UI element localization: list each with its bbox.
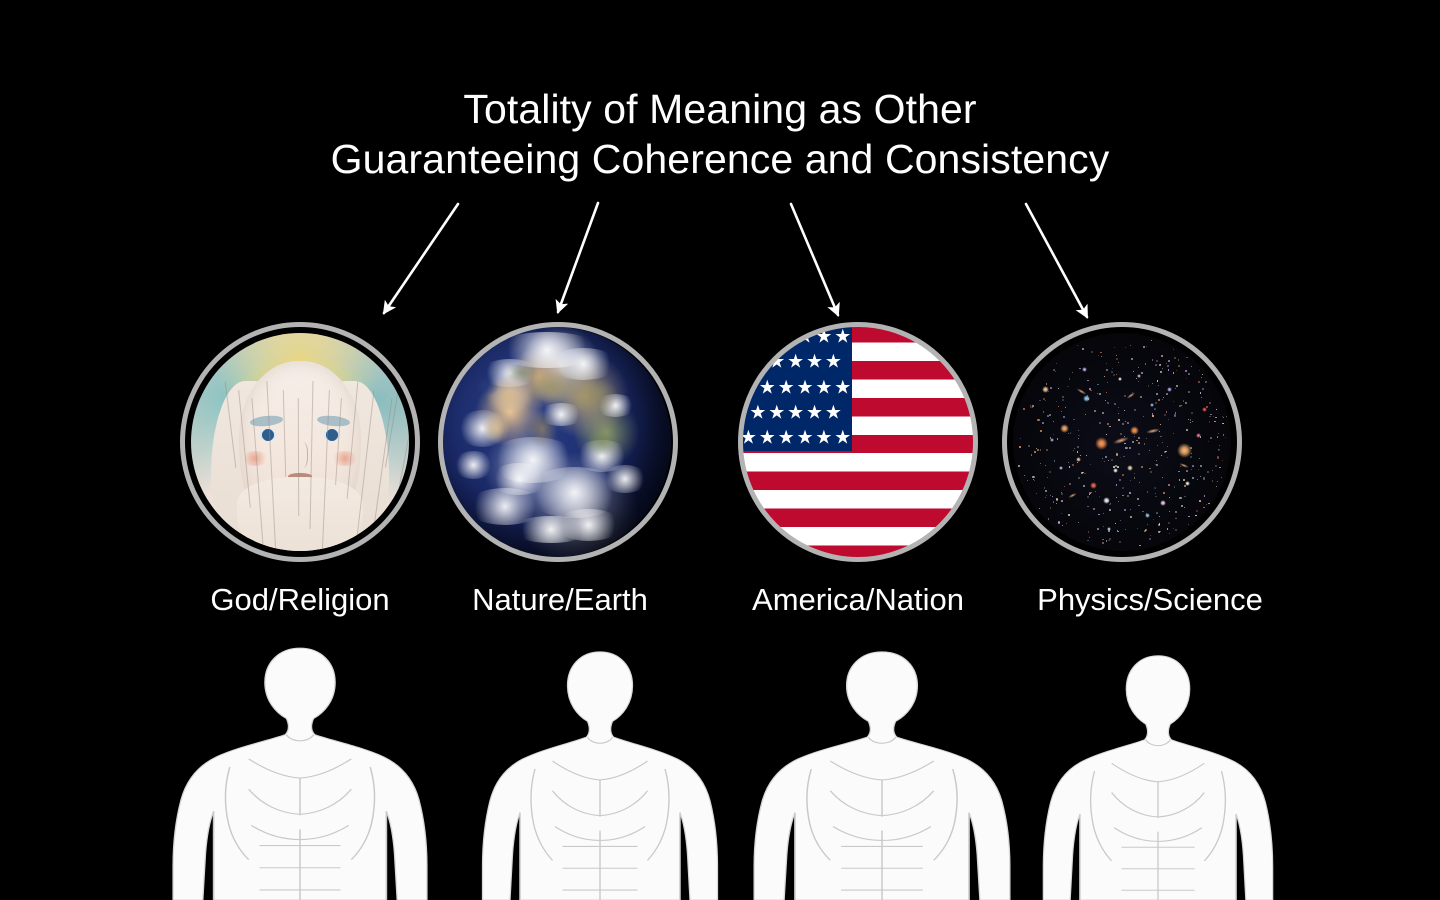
arrow-to-earth <box>558 203 598 312</box>
arrow-to-physics <box>1026 204 1087 317</box>
arrow-to-america <box>791 204 838 315</box>
figure-physics <box>1036 646 1280 900</box>
figure-earth <box>475 642 725 900</box>
medallion-label-physics-science: Physics/Science <box>1037 582 1263 618</box>
flag-star-icon: ★ <box>740 327 757 346</box>
figure-america <box>746 642 1018 900</box>
medallion-ring <box>738 322 978 562</box>
title-line-1: Totality of Meaning as Other <box>0 84 1440 134</box>
human-figure-icon <box>165 638 435 900</box>
human-figure-icon <box>475 642 725 900</box>
medallion-ring <box>1002 322 1242 562</box>
medallion-label-god-religion: God/Religion <box>210 582 389 618</box>
medallion-ring <box>438 322 678 562</box>
medallion-physics-science[interactable] <box>1002 322 1242 562</box>
medallion-ring <box>180 322 420 562</box>
medallion-nature-earth[interactable] <box>438 322 678 562</box>
human-figure-icon <box>746 642 1018 900</box>
page-title: Totality of Meaning as Other Guaranteein… <box>0 84 1440 184</box>
arrow-to-god <box>384 204 458 313</box>
medallion-america-nation[interactable]: ★★★★★★★★★★★★★★★★★★★★★★★★★★★★ <box>738 322 978 562</box>
title-line-2: Guaranteeing Coherence and Consistency <box>0 134 1440 184</box>
medallion-god-religion[interactable] <box>180 322 420 562</box>
medallion-label-america-nation: America/Nation <box>752 582 964 618</box>
slide-canvas: Totality of Meaning as Other Guaranteein… <box>0 0 1440 900</box>
medallion-label-nature-earth: Nature/Earth <box>472 582 648 618</box>
figure-god <box>165 638 435 900</box>
human-figure-icon <box>1036 646 1280 900</box>
flag-star-icon: ★ <box>759 327 776 346</box>
